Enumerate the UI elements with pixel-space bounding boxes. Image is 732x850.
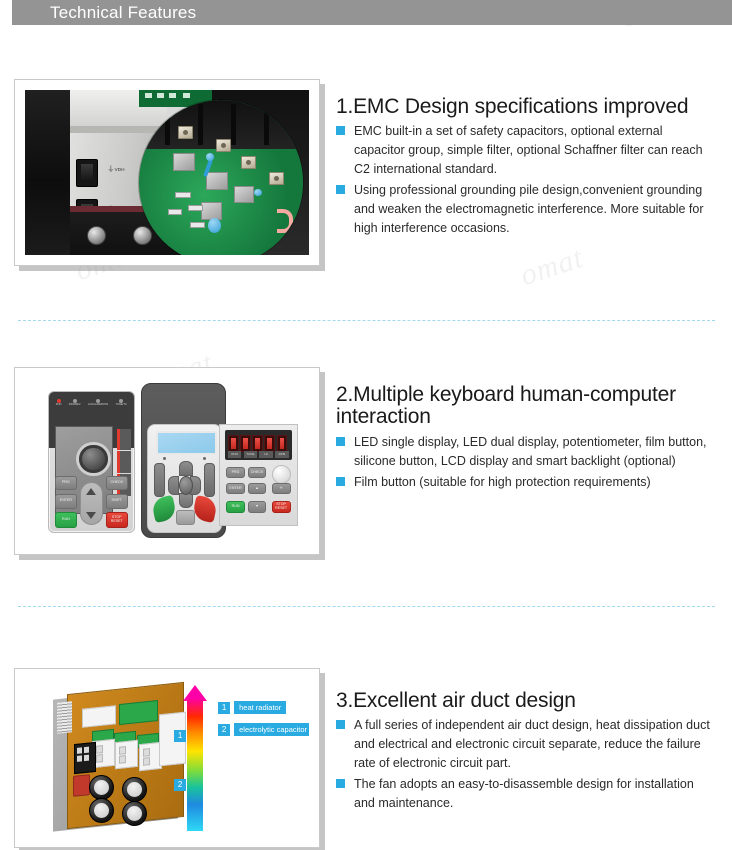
callout-marker-1: 1 xyxy=(174,730,186,742)
led-digit xyxy=(277,435,288,452)
section-number: 2. xyxy=(336,383,353,406)
keypad-left-run-button[interactable]: RUN xyxy=(55,512,77,528)
figure-air-duct-inner: 1 2 1 heat radiator 2 electrolytic capac… xyxy=(25,679,309,837)
section-title-text: Multiple keyboard human-computer interac… xyxy=(336,383,676,428)
content-emc-design: 1.EMC Design specifications improved EMC… xyxy=(336,96,716,240)
status-led-run: RUN xyxy=(56,399,62,407)
keypad-lcd-smart xyxy=(141,383,225,538)
safety-capacitor xyxy=(201,202,222,220)
gold-terminal xyxy=(241,156,256,169)
electrolytic-capacitor xyxy=(89,775,114,800)
section-number: 1. xyxy=(336,95,353,118)
bullet-square-icon xyxy=(336,779,345,788)
content-air-duct: 3.Excellent air duct design A full serie… xyxy=(336,690,716,815)
arrow-up-icon xyxy=(86,488,96,495)
section-title-text: EMC Design specifications improved xyxy=(353,95,688,118)
keypad-right-check-button[interactable]: CHECK xyxy=(248,467,267,478)
dpad-down[interactable] xyxy=(179,493,193,508)
bullet-text: The fan adopts an easy-to-disassemble de… xyxy=(354,777,694,810)
electrolytic-capacitor xyxy=(122,801,147,826)
status-led-fwdrev: FWD/REV xyxy=(69,399,81,407)
keypad-right-led-display: RUN TUNE Hz RPM xyxy=(225,430,292,460)
section-heading: 1.EMC Design specifications improved xyxy=(336,96,716,118)
led-digit xyxy=(228,435,239,452)
label-vdh: ⏚VDH xyxy=(107,164,124,174)
drive-shadow-left xyxy=(25,90,76,255)
watermark: omat xyxy=(516,241,587,293)
keypad-left-status-leds: RUN FWD/REV LOCAL/REMOTE TUNE/TC xyxy=(52,399,130,421)
connector-block xyxy=(74,742,96,774)
keypad-middle-stop-button[interactable] xyxy=(192,495,218,523)
status-led-hz: Hz xyxy=(259,451,272,458)
keypad-right-stop-button[interactable]: STOP RESET xyxy=(272,501,291,513)
section-heading: 2.Multiple keyboard human-computer inter… xyxy=(336,384,716,429)
legend-number: 2 xyxy=(218,724,230,736)
smd-component xyxy=(190,222,205,228)
figure-air-duct: 1 2 1 heat radiator 2 electrolytic capac… xyxy=(14,668,320,848)
keypad-middle-enter-button[interactable] xyxy=(176,510,195,525)
jumper-switch-vdh xyxy=(76,159,98,187)
figure-keypads: RUN FWD/REV LOCAL/REMOTE TUNE/TC PRG CHE… xyxy=(14,367,320,555)
keypad-middle-lcd-display xyxy=(156,431,217,455)
emc-photo: ⏚VDH ⏚EMC xyxy=(25,90,309,255)
bullet-list-keyboard: LED single display, LED dual display, po… xyxy=(336,433,716,492)
content-keyboard-interaction: 2.Multiple keyboard human-computer inter… xyxy=(336,384,716,494)
keypad-left-prg-button[interactable]: PRG xyxy=(55,476,77,491)
status-led-tune: TUNE xyxy=(244,451,257,458)
status-led-rpm: RPM xyxy=(275,451,288,458)
section-title-text: Excellent air duct design xyxy=(353,689,576,712)
legend-label: heat radiator xyxy=(234,701,286,714)
gold-terminal xyxy=(269,172,284,185)
keypad-right-run-button[interactable]: RUN xyxy=(226,501,245,513)
section-heading: 3.Excellent air duct design xyxy=(336,690,716,712)
figure-keypads-inner: RUN FWD/REV LOCAL/REMOTE TUNE/TC PRG CHE… xyxy=(25,378,309,544)
bullet-text: Film button (suitable for high protectio… xyxy=(354,475,651,489)
keypad-led-single: RUN TUNE Hz RPM PRG CHECK ENTER ▲ ✛ RUN … xyxy=(219,424,298,526)
bullet-text: A full series of independent air duct de… xyxy=(354,718,710,770)
keypad-right-shift-button[interactable]: ✛ xyxy=(272,483,291,494)
heat-radiator-fins xyxy=(57,702,72,734)
keypad-led-dual: RUN FWD/REV LOCAL/REMOTE TUNE/TC PRG CHE… xyxy=(48,391,135,532)
safety-capacitor xyxy=(173,153,195,171)
keypad-left-updown-rocker[interactable] xyxy=(80,482,102,526)
bullet-item: A full series of independent air duct de… xyxy=(336,716,716,773)
smd-component xyxy=(168,209,182,215)
status-led-tune: TUNE/TC xyxy=(116,399,127,407)
keypad-left-shift-button[interactable]: SHIFT xyxy=(106,494,128,509)
keypad-right-up-button[interactable]: ▲ xyxy=(248,483,267,494)
led-digit xyxy=(252,435,263,452)
keypad-middle-right-side-button[interactable] xyxy=(204,463,215,497)
pink-connector xyxy=(277,209,293,233)
dpad-center[interactable] xyxy=(179,476,193,495)
dpad-up[interactable] xyxy=(179,461,193,476)
keypad-middle-face xyxy=(147,424,221,533)
keypad-left-enter-button[interactable]: ENTER xyxy=(55,494,77,509)
keypad-photo: RUN FWD/REV LOCAL/REMOTE TUNE/TC PRG CHE… xyxy=(25,378,309,544)
electrolytic-capacitor xyxy=(122,777,147,802)
keypad-left-stop-button[interactable]: STOP RESET xyxy=(106,512,128,528)
bullet-square-icon xyxy=(336,185,345,194)
keypad-right-potentiometer[interactable] xyxy=(272,465,291,484)
legend-row-heat-radiator: 1 heat radiator xyxy=(218,701,303,714)
bullet-text: EMC built-in a set of safety capacitors,… xyxy=(354,124,703,176)
figure-emc-board-inner: ⏚VDH ⏚EMC xyxy=(25,90,309,255)
keypad-right-status-leds: RUN TUNE Hz RPM xyxy=(228,451,289,458)
bullet-square-icon xyxy=(336,477,345,486)
led-digit xyxy=(240,435,251,452)
bullet-item: Film button (suitable for high protectio… xyxy=(336,473,716,492)
bullet-square-icon xyxy=(336,126,345,135)
keypad-left-check-button[interactable]: CHECK xyxy=(106,476,128,491)
smd-component xyxy=(175,192,191,198)
blue-capacitor xyxy=(206,153,214,161)
magnified-pcb-circle xyxy=(139,100,304,255)
keypad-right-prg-button[interactable]: PRG xyxy=(226,467,245,478)
keypad-right-enter-button[interactable]: ENTER xyxy=(226,483,245,494)
keypad-right-down-button[interactable]: ▼ xyxy=(248,501,267,513)
page-title: Technical Features xyxy=(50,3,196,23)
figure-emc-board: ⏚VDH ⏚EMC xyxy=(14,79,320,266)
ground-symbol-icon: ⏚ xyxy=(107,166,114,173)
thermal-gradient-arrow xyxy=(187,685,203,830)
dpad-left[interactable] xyxy=(168,476,179,495)
callout-marker-2: 2 xyxy=(174,779,186,791)
section-divider xyxy=(18,606,715,607)
status-led-localremote: LOCAL/REMOTE xyxy=(88,399,108,407)
bullet-list-air-duct: A full series of independent air duct de… xyxy=(336,716,716,813)
bullet-square-icon xyxy=(336,437,345,446)
legend-label: electrolytic capacitor xyxy=(234,723,309,736)
safety-capacitor xyxy=(234,186,254,203)
legend-number: 1 xyxy=(218,702,230,714)
bullet-item: Using professional grounding pile design… xyxy=(336,181,716,238)
bullet-item: The fan adopts an easy-to-disassemble de… xyxy=(336,775,716,813)
air-duct-diagram: 1 2 1 heat radiator 2 electrolytic capac… xyxy=(25,679,309,837)
blue-capacitor xyxy=(254,189,262,196)
drive-cutaway xyxy=(59,688,184,827)
air-duct-legend: 1 heat radiator 2 electrolytic capacitor xyxy=(218,701,303,745)
keypad-middle-left-side-button[interactable] xyxy=(154,463,165,497)
gold-terminal xyxy=(216,139,231,152)
bullet-square-icon xyxy=(336,720,345,729)
bullet-item: EMC built-in a set of safety capacitors,… xyxy=(336,122,716,179)
bullet-item: LED single display, LED dual display, po… xyxy=(336,433,716,471)
bullet-text: Using professional grounding pile design… xyxy=(354,183,704,235)
gold-terminal xyxy=(178,126,193,139)
led-digit xyxy=(264,435,275,452)
status-led-run: RUN xyxy=(228,451,241,458)
safety-capacitor xyxy=(206,172,228,190)
keypad-middle-led xyxy=(163,457,166,460)
section-divider xyxy=(18,320,715,321)
arrow-down-icon xyxy=(86,512,96,519)
gradient-shaft xyxy=(187,698,203,830)
keypad-left-jog-wheel[interactable] xyxy=(79,445,107,473)
legend-row-electrolytic-capacitor: 2 electrolytic capacitor xyxy=(218,723,303,736)
bullet-list-emc: EMC built-in a set of safety capacitors,… xyxy=(336,122,716,238)
red-component xyxy=(73,774,90,797)
magnified-pcb-inner xyxy=(139,100,304,255)
bullet-text: LED single display, LED dual display, po… xyxy=(354,435,707,468)
relay-module xyxy=(115,740,138,769)
page-header-bar: Technical Features xyxy=(12,0,732,25)
control-board xyxy=(82,705,116,727)
section-number: 3. xyxy=(336,689,353,712)
keypad-middle-led xyxy=(203,457,206,460)
smd-component xyxy=(188,205,203,211)
